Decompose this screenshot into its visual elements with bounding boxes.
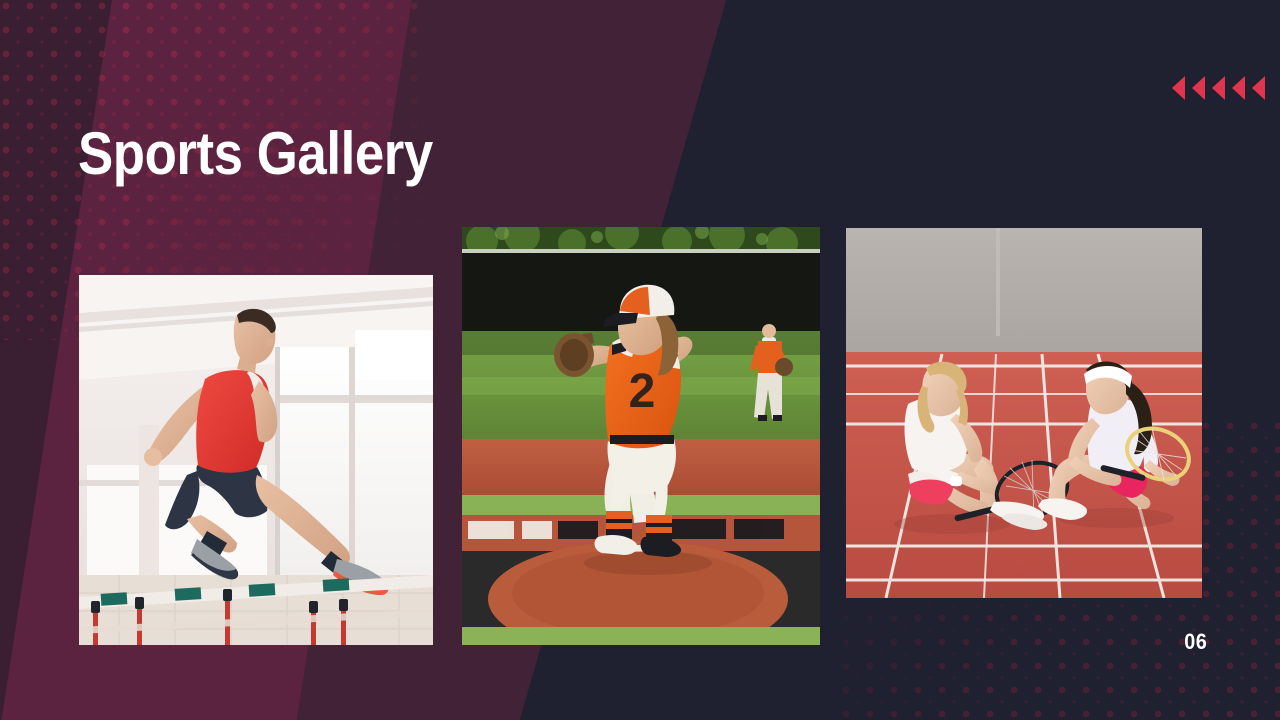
baseball-illustration: 2: [462, 227, 820, 645]
page-number: 06: [1184, 629, 1207, 655]
chevron-left-icon: [1172, 76, 1185, 100]
chevron-left-icon: [1212, 76, 1225, 100]
chevron-left-icon: [1192, 76, 1205, 100]
svg-text:T: T: [636, 291, 648, 311]
gallery-photo-baseball[interactable]: 2: [462, 227, 820, 645]
gallery-photo-badminton[interactable]: [846, 228, 1202, 598]
chevron-decoration-group: [1172, 76, 1265, 100]
chevron-left-icon: [1252, 76, 1265, 100]
slide-canvas: Sports Gallery: [0, 0, 1280, 720]
svg-text:2: 2: [629, 365, 656, 418]
chevron-left-icon: [1232, 76, 1245, 100]
gallery-photo-hurdles[interactable]: [79, 275, 433, 645]
badminton-illustration: [846, 228, 1202, 598]
hurdles-illustration: [79, 275, 433, 645]
page-title: Sports Gallery: [78, 121, 433, 187]
